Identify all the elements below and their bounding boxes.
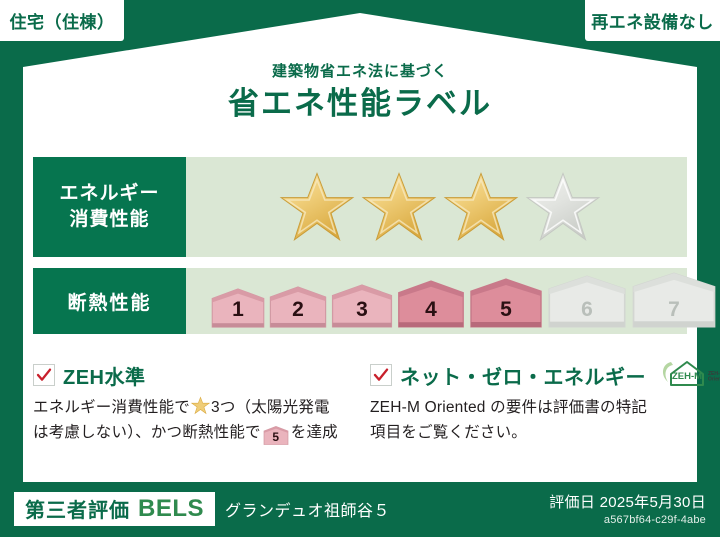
insulation-grade-1: 1	[210, 288, 266, 328]
title-subtitle: 建築物省エネ法に基づく	[0, 62, 720, 82]
check-icon	[370, 364, 392, 386]
zeh-standard-body: エネルギー消費性能で3つ（太陽光発電は考慮しない）、かつ断熱性能で 5 を達成	[33, 395, 353, 445]
grade-value: 7	[668, 299, 680, 328]
star-icon-inline	[191, 396, 210, 415]
star-icon	[278, 168, 356, 246]
net-zero-energy-title: ネット・ゼロ・エネルギー	[400, 361, 646, 390]
grade-value: 4	[425, 299, 437, 328]
energy-performance-label: 住宅（住棟） 再エネ設備なし 建築物省エネ法に基づく 省エネ性能ラベル エネルギ…	[0, 0, 720, 537]
evaluation-date: 評価日 2025年5月30日	[549, 491, 706, 512]
zeh-m-logo-text: ZEH-M	[672, 371, 702, 382]
page-title: 省エネ性能ラベル	[0, 84, 720, 124]
insulation-grade-7: 7	[630, 272, 718, 328]
zeh-standard-title: ZEH水準	[63, 361, 146, 390]
evaluation-id: a567bf64-c29f-4abe	[549, 514, 706, 526]
energy-performance-label-block: エネルギー 消費性能	[33, 157, 186, 257]
zeh-standard-header: ZEH水準	[33, 362, 353, 388]
zeh-body-part3: は考慮しない）、かつ断熱性能で	[33, 424, 261, 441]
insulation-grade-2: 2	[268, 286, 328, 328]
star-icon	[442, 168, 520, 246]
bels-jp-label: 第三者評価	[25, 494, 130, 523]
grade-value: 1	[232, 299, 244, 328]
star-rating	[186, 157, 687, 257]
net-zero-body-line1: ZEH-M Oriented の要件は評価書の特記	[370, 395, 700, 420]
bottom-bar: 第三者評価 BELS グランデュオ祖師谷５ 評価日 2025年5月30日 a56…	[0, 480, 720, 537]
building-name: グランデュオ祖師谷５	[225, 497, 390, 521]
insulation-grade-scale: 1 2 3	[186, 268, 718, 334]
evaluation-info: 評価日 2025年5月30日 a567bf64-c29f-4abe	[549, 491, 706, 526]
grade-badge-inline: 5	[263, 426, 289, 445]
insulation-performance-row: 断熱性能 1 2	[33, 268, 687, 334]
net-zero-energy-body: ZEH-M Oriented の要件は評価書の特記 項目をご覧ください。	[370, 395, 700, 445]
zeh-m-logo-sub2: Oriented	[708, 376, 720, 382]
zeh-body-part2: 3つ（太陽光発電	[211, 399, 330, 416]
grade-value: 3	[356, 299, 368, 328]
zeh-body-part1: エネルギー消費性能で	[33, 399, 190, 416]
energy-label-line2: 消費性能	[69, 207, 149, 233]
grade-value: 5	[500, 299, 512, 328]
star-icon	[360, 168, 438, 246]
insulation-performance-label-block: 断熱性能	[33, 268, 186, 334]
energy-performance-row: エネルギー 消費性能	[33, 157, 687, 257]
star-icon-empty	[524, 168, 602, 246]
grade-value: 6	[581, 299, 593, 328]
zeh-body-part4: を達成	[291, 424, 338, 441]
energy-label-line1: エネルギー	[59, 181, 159, 207]
insulation-grade-3: 3	[330, 284, 394, 328]
insulation-grade-5: 5	[468, 278, 544, 328]
badge-building-type: 住宅（住棟）	[0, 0, 124, 41]
badge-renewable-energy: 再エネ設備なし	[585, 0, 720, 41]
bels-badge: 第三者評価 BELS	[14, 492, 215, 526]
net-zero-body-line2: 項目をご覧ください。	[370, 420, 700, 445]
grade-value: 2	[292, 299, 304, 328]
grade-badge-value: 5	[263, 426, 289, 449]
insulation-grade-4: 4	[396, 280, 466, 328]
zeh-m-logo-icon: ZEH-M ZEH-M Oriented	[656, 357, 720, 394]
net-zero-energy-section: ネット・ゼロ・エネルギー ZEH-M ZEH-M Oriented ZEH-M …	[370, 362, 700, 445]
net-zero-energy-header: ネット・ゼロ・エネルギー ZEH-M ZEH-M Oriented	[370, 362, 700, 388]
zeh-standard-section: ZEH水準 エネルギー消費性能で3つ（太陽光発電は考慮しない）、かつ断熱性能で …	[33, 362, 353, 445]
check-icon	[33, 364, 55, 386]
title-block: 建築物省エネ法に基づく 省エネ性能ラベル	[0, 62, 720, 124]
bels-en-label: BELS	[138, 495, 204, 523]
insulation-grade-6: 6	[546, 275, 628, 328]
